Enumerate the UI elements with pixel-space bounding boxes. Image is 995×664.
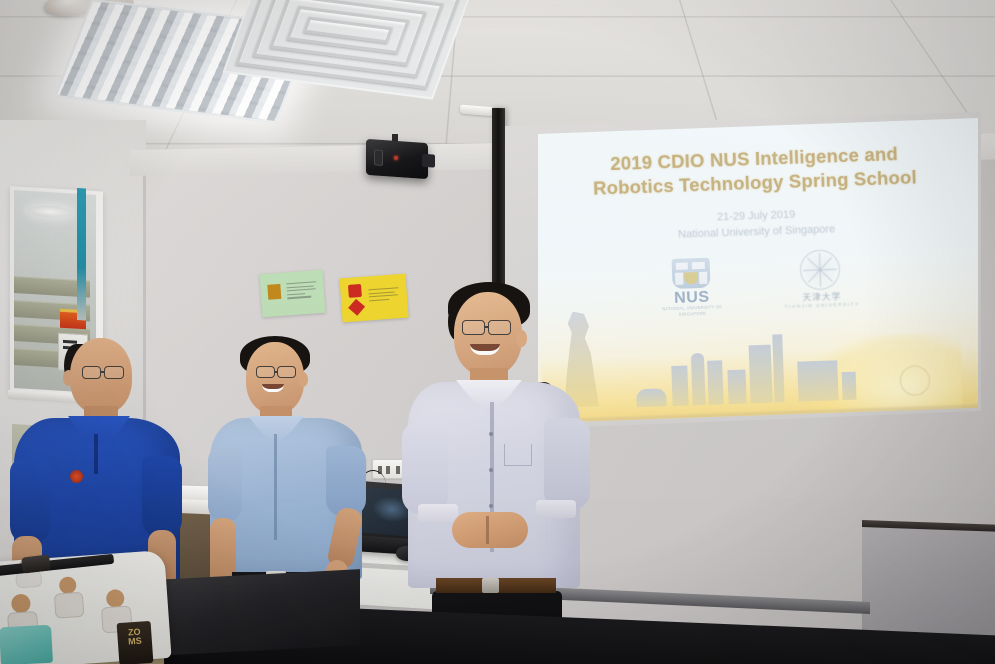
shirt-placket [274, 434, 277, 540]
ear [298, 372, 308, 387]
slide-skyline-image [539, 295, 978, 423]
projected-slide: 2019 CDIO NUS Intelligence and Robotics … [538, 118, 978, 423]
hazard-diamond-icon [348, 299, 365, 316]
nus-shield-icon [672, 258, 711, 289]
eyeglasses-bridge [485, 326, 489, 328]
poster-text-lines [286, 281, 317, 301]
eyeglasses-icon [462, 320, 485, 335]
ceiling-projector-icon [366, 139, 428, 179]
bag-clip [21, 554, 51, 573]
building [691, 353, 706, 405]
building [772, 334, 784, 402]
building [707, 360, 724, 404]
eyeglasses-icon [82, 366, 101, 379]
projector-lens [374, 149, 383, 166]
eyeglasses-icon [488, 320, 511, 335]
sleeve-left [402, 422, 448, 514]
rolled-cuff-right [536, 500, 576, 518]
shirt-button [489, 468, 493, 472]
building [636, 388, 667, 407]
rolled-cuff-left [418, 504, 458, 522]
poster-text-lines [368, 287, 399, 303]
lapel-badge-icon [70, 470, 83, 483]
projector-led-icon [394, 156, 398, 160]
bag-tag-text: ZO MS [121, 627, 148, 648]
shirt-button [489, 504, 493, 508]
building [749, 345, 773, 404]
eyeglasses-bridge [275, 371, 278, 373]
sleeve-left [208, 448, 242, 522]
building [797, 360, 838, 401]
university-seal-icon [799, 249, 840, 290]
shirt-pocket [504, 444, 532, 466]
eyeglasses-bridge [101, 371, 105, 373]
eyeglasses-icon [256, 366, 275, 378]
head [246, 342, 304, 414]
warning-square-icon [267, 284, 281, 300]
eyeglasses-icon [277, 366, 296, 378]
water-bottle [0, 625, 53, 664]
hand-separation [486, 516, 489, 544]
eyeglasses-icon [104, 366, 124, 379]
belt-buckle [482, 578, 499, 593]
building [671, 366, 688, 407]
sleeve-right [544, 418, 590, 510]
sleeve-left [10, 458, 50, 544]
ear [516, 330, 527, 347]
safety-notice-green [260, 270, 326, 317]
sleeve-right [326, 446, 366, 516]
polo-placket [94, 434, 98, 474]
clasped-hands [452, 512, 528, 548]
hazard-square-icon [348, 284, 362, 298]
shirt-button [489, 432, 493, 436]
adjacent-room-light [28, 205, 72, 219]
window-teal-frame [77, 188, 86, 321]
building [727, 369, 746, 404]
bag-motif [48, 575, 91, 624]
sleeve-right [142, 456, 182, 538]
person-speaker-foreground [398, 282, 598, 664]
classroom-photo: 2019 CDIO NUS Intelligence and Robotics … [0, 0, 995, 664]
building [842, 372, 857, 400]
ear [63, 370, 74, 386]
bag-tag: ZO MS [117, 621, 154, 664]
projector-knob [422, 154, 435, 168]
